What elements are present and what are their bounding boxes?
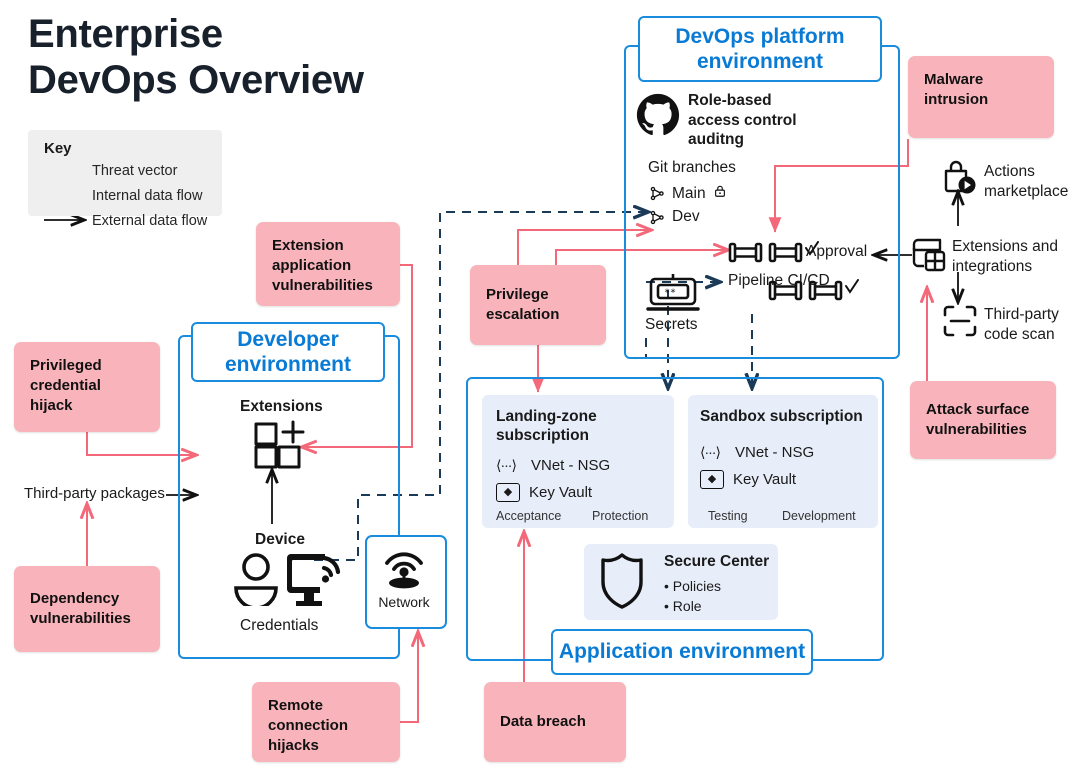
third-party-code-scan-icon (942, 304, 978, 338)
secure-center-title: Secure Center (664, 553, 769, 571)
threat-box-extension-application-vulnerabilities: Extension application vulnerabilities (256, 222, 400, 306)
actions-marketplace-icon (940, 160, 980, 196)
developer-environment-label: Developer environment (191, 322, 385, 382)
check-icon (846, 280, 858, 292)
secrets-label: Secrets (645, 316, 698, 334)
credentials-label: Credentials (240, 617, 318, 635)
key-legend-item-external-data-flow: External data flow (92, 213, 207, 229)
extensions-icon (254, 420, 308, 472)
network-icon (380, 546, 428, 590)
network-label: Network (374, 594, 434, 610)
threat-box-privileged-credential-hijack: Privileged credential hijack (14, 342, 160, 432)
landing-footer-acceptance: Acceptance (496, 509, 561, 523)
threat-box-privilege-escalation: Privilege escalation (470, 265, 606, 345)
git-branch-dev-label: Dev (672, 208, 700, 226)
threat-box-malware-intrusion: Malware intrusion (908, 56, 1054, 138)
actions-marketplace-label: Actions marketplace (984, 162, 1079, 201)
threat-box-remote-connection-hijacks: Remote connection hijacks (252, 682, 400, 762)
sandbox-key-vault-label: Key Vault (733, 471, 796, 488)
sandbox-vnet-nsg-label: VNet - NSG (735, 444, 814, 461)
third-party-code-scan-label: Third-party code scan (984, 305, 1078, 344)
landing-vnet-nsg-row: ⟨···⟩ VNet - NSG (496, 457, 610, 474)
git-branch-main-label: Main (672, 185, 706, 203)
vnet-icon: ⟨···⟩ (496, 457, 522, 474)
device-monitor-icon (284, 552, 344, 608)
landing-key-vault-row: ◆ Key Vault (496, 483, 592, 502)
github-icon (636, 93, 680, 137)
svg-text:**_: **_ (664, 288, 683, 299)
pipeline-stage-2 (770, 244, 801, 261)
threat-box-data-breach: Data breach (484, 682, 626, 762)
threat-box-attack-surface-vulnerabilities: Attack surface vulnerabilities (910, 381, 1056, 459)
pipeline-stage-1 (730, 244, 761, 261)
secrets-icon: **_ (644, 272, 702, 316)
landing-footer-protection: Protection (592, 509, 648, 523)
threat-box-dependency-vulnerabilities: Dependency vulnerabilities (14, 566, 160, 652)
sandbox-footer-testing: Testing (708, 509, 748, 523)
devops-platform-environment-label: DevOps platform environment (638, 16, 882, 82)
key-legend-title: Key (44, 140, 72, 157)
landing-zone-subscription-title: Landing-zone subscription (496, 408, 626, 446)
sandbox-vnet-nsg-row: ⟨···⟩ VNet - NSG (700, 444, 814, 461)
branch-icon (650, 186, 665, 201)
page-title-line2: DevOps Overview (28, 58, 508, 104)
lock-icon (713, 184, 727, 203)
page-title-line1: Enterprise (28, 12, 508, 58)
key-vault-icon: ◆ (700, 470, 724, 489)
secure-center-bullet-role: • Role (664, 598, 702, 614)
credentials-user-icon (232, 552, 280, 606)
landing-key-vault-label: Key Vault (529, 484, 592, 501)
extensions-label: Extensions (240, 398, 323, 416)
sandbox-key-vault-row: ◆ Key Vault (700, 470, 796, 489)
threat-path-remote (400, 632, 418, 722)
sandbox-footer-development: Development (782, 509, 856, 523)
key-legend-item-internal-data-flow: Internal data flow (92, 188, 202, 204)
vnet-icon: ⟨···⟩ (700, 444, 726, 461)
application-environment-label: Application environment (551, 629, 813, 675)
sandbox-subscription-title: Sandbox subscription (700, 408, 870, 427)
third-party-packages-label: Third-party packages (24, 485, 165, 502)
shield-icon (600, 552, 644, 610)
extensions-integrations-icon (910, 236, 948, 274)
branch-icon (650, 210, 665, 225)
git-branch-dev[interactable]: Dev (650, 208, 700, 226)
rbac-auditing-label: Role-based access control auditng (688, 91, 808, 150)
git-branch-main[interactable]: Main (650, 184, 727, 203)
pipeline-stage-3 (770, 282, 801, 299)
key-vault-icon: ◆ (496, 483, 520, 502)
key-legend-item-threat-vector: Threat vector (92, 163, 177, 179)
secure-center-bullet-policies: • Policies (664, 578, 721, 594)
device-label: Device (255, 531, 305, 549)
git-branches-label: Git branches (648, 159, 736, 177)
extensions-integrations-label: Extensions and integrations (952, 237, 1060, 276)
landing-vnet-nsg-label: VNet - NSG (531, 457, 610, 474)
page-title: Enterprise DevOps Overview (28, 12, 508, 103)
pipeline-stage-4 (810, 282, 841, 299)
approval-label: Approval (806, 243, 867, 261)
